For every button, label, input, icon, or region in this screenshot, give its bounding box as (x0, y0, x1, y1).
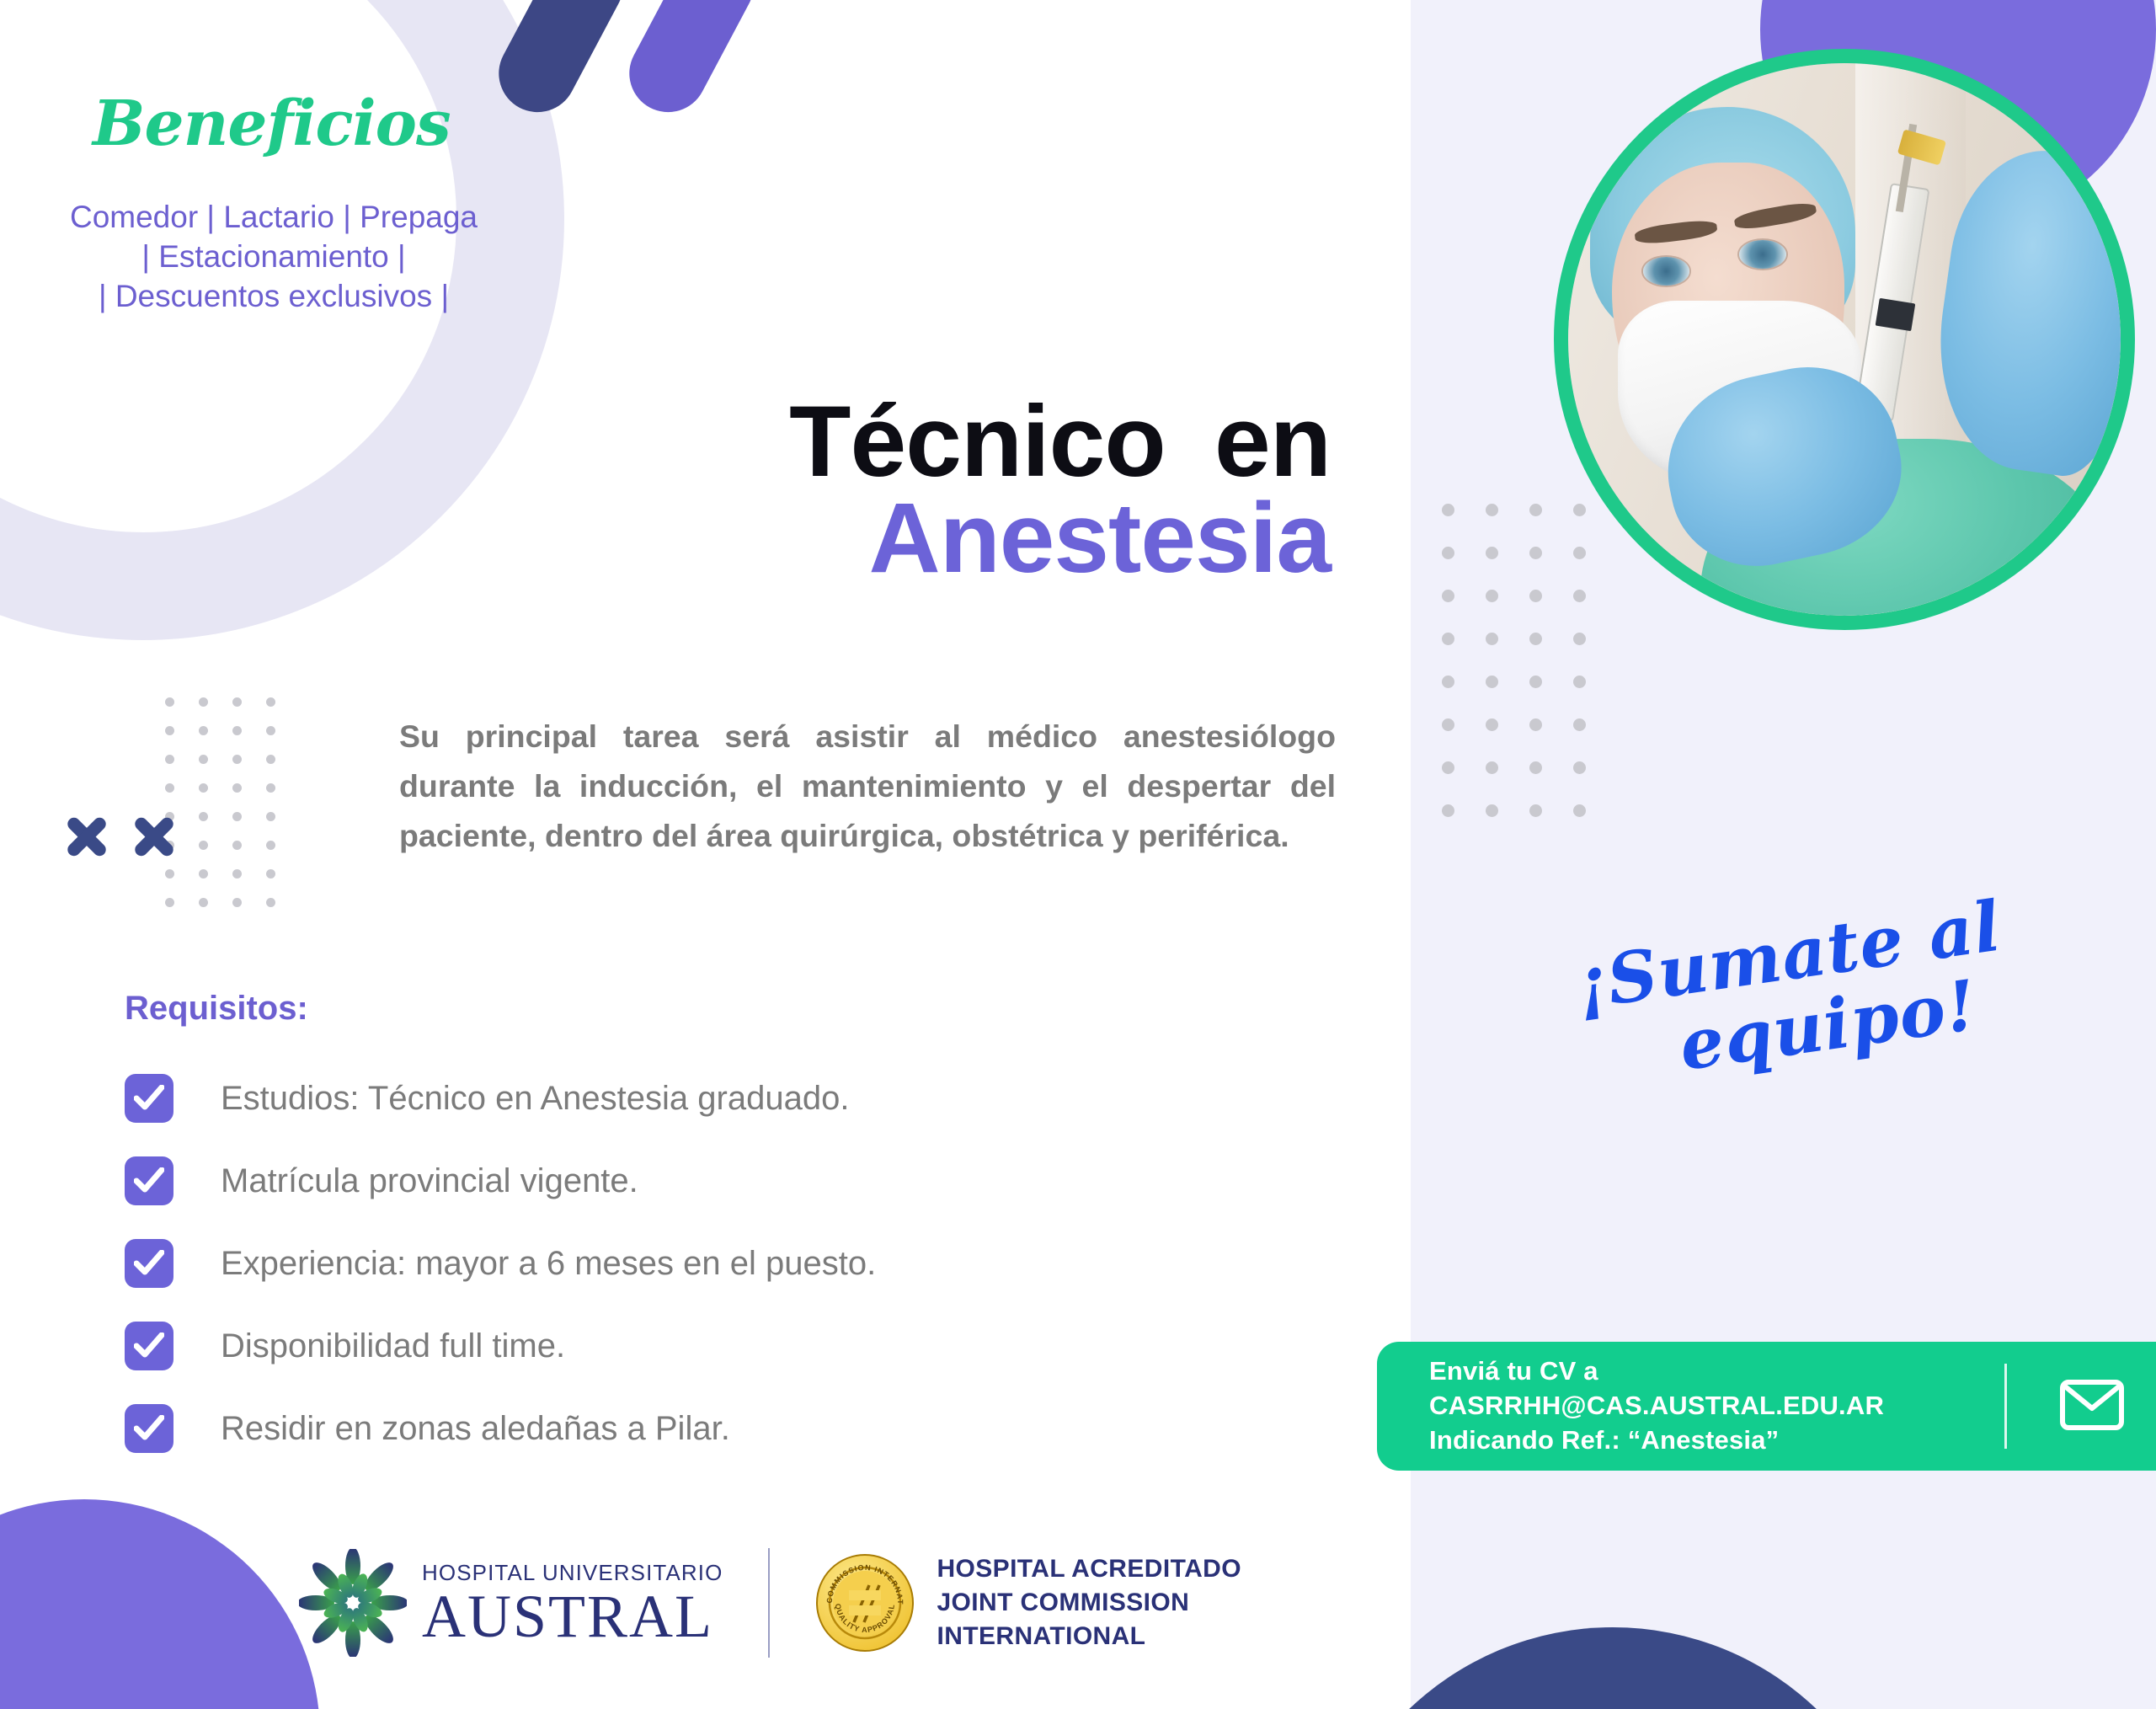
requirement-item: Disponibilidad full time. (125, 1305, 1321, 1387)
austral-flower-icon (299, 1549, 407, 1657)
job-title-line-2: Anestesia (505, 488, 1331, 589)
decorative-x-icon (128, 810, 180, 863)
jci-line-1: HOSPITAL ACREDITADO (937, 1552, 1241, 1586)
requirements-list: Estudios: Técnico en Anestesia graduado.… (125, 1057, 1321, 1470)
benefits-line: | Descuentos exclusivos | (59, 277, 488, 317)
check-icon (125, 1074, 173, 1123)
check-icon (125, 1239, 173, 1288)
requirements-heading: Requisitos: (125, 990, 308, 1028)
check-icon (125, 1156, 173, 1205)
benefits-heading: Beneficios (93, 93, 446, 155)
check-icon (125, 1322, 173, 1370)
requirement-label: Matrícula provincial vigente. (221, 1162, 638, 1200)
contact-divider (2004, 1364, 2007, 1449)
jci-wordmark: HOSPITAL ACREDITADO JOINT COMMISSION INT… (937, 1552, 1241, 1654)
requirement-label: Disponibilidad full time. (221, 1327, 565, 1365)
requirement-item: Estudios: Técnico en Anestesia graduado. (125, 1057, 1321, 1140)
nurse-photo (1554, 49, 2135, 630)
benefits-line: | Estacionamiento | (59, 238, 488, 277)
benefits-list: Comedor | Lactario | Prepaga | Estaciona… (59, 198, 488, 317)
contact-email[interactable]: CASRRHH@CAS.AUSTRAL.EDU.AR (1429, 1389, 1884, 1423)
contact-cv-box[interactable]: Enviá tu CV a CASRRHH@CAS.AUSTRAL.EDU.AR… (1377, 1342, 2156, 1471)
contact-text: Enviá tu CV a CASRRHH@CAS.AUSTRAL.EDU.AR… (1429, 1354, 1884, 1458)
jci-gold-seal-icon: JOINT COMMISSION INTERNATIONAL QUALITY A… (815, 1553, 915, 1653)
envelope-icon (2059, 1379, 2125, 1435)
job-posting-poster: Beneficios Comedor | Lactario | Prepaga … (0, 0, 2156, 1709)
benefits-line: Comedor | Lactario | Prepaga (59, 198, 488, 238)
footer-logos: HOSPITAL UNIVERSITARIO AUSTRAL (299, 1548, 1241, 1658)
requirement-label: Experiencia: mayor a 6 meses en el puest… (221, 1245, 876, 1283)
decorative-quote-bar-purple (616, 0, 767, 126)
job-title-line-1: Técnico en (505, 390, 1331, 493)
decorative-circle-bottom-left (0, 1499, 320, 1709)
decorative-dot-grid-left (165, 697, 300, 927)
job-description: Su principal tarea será asistir al médic… (399, 712, 1336, 861)
footer-divider (768, 1548, 770, 1658)
jci-line-3: INTERNATIONAL (937, 1620, 1241, 1653)
requirement-label: Estudios: Técnico en Anestesia graduado. (221, 1080, 849, 1118)
requirement-item: Residir en zonas aledañas a Pilar. (125, 1387, 1321, 1470)
job-title: Técnico en Anestesia (505, 390, 1331, 590)
decorative-x-icon (61, 810, 113, 863)
requirement-label: Residir en zonas aledañas a Pilar. (221, 1410, 730, 1448)
requirement-item: Matrícula provincial vigente. (125, 1140, 1321, 1222)
contact-reference: Indicando Ref.: “Anestesia” (1429, 1423, 1884, 1458)
austral-name: AUSTRAL (422, 1588, 723, 1646)
austral-wordmark: HOSPITAL UNIVERSITARIO AUSTRAL (422, 1560, 723, 1646)
requirement-item: Experiencia: mayor a 6 meses en el puest… (125, 1222, 1321, 1305)
contact-line-1: Enviá tu CV a (1429, 1354, 1884, 1389)
jci-line-2: JOINT COMMISSION (937, 1586, 1241, 1620)
check-icon (125, 1404, 173, 1453)
